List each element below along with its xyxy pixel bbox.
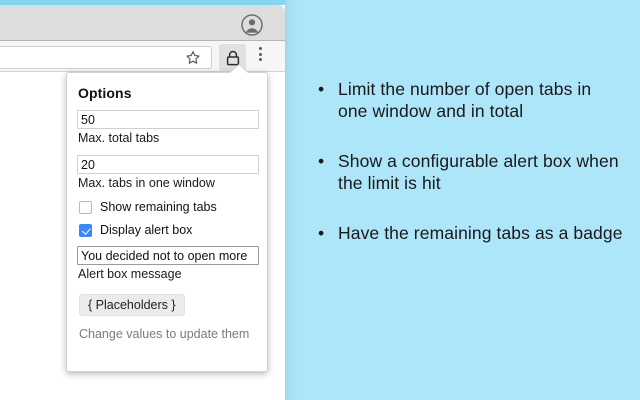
display-alert-box-row[interactable]: Display alert box xyxy=(79,223,257,237)
promo-feature-text: Limit the number of open tabs in one win… xyxy=(338,79,591,121)
display-alert-box-checkbox[interactable] xyxy=(79,224,92,237)
placeholders-button[interactable]: { Placeholders } xyxy=(79,294,185,316)
popup-title: Options xyxy=(78,85,257,101)
extension-popup: Options Max. total tabs Max. tabs in one… xyxy=(66,72,268,372)
promo-feature-item: • Limit the number of open tabs in one w… xyxy=(314,78,624,122)
popup-hint-text: Change values to update them xyxy=(79,327,257,342)
star-icon[interactable] xyxy=(185,50,201,66)
browser-window: Options Max. total tabs Max. tabs in one… xyxy=(0,0,285,400)
display-alert-box-label: Display alert box xyxy=(100,223,192,237)
menu-dot xyxy=(259,53,262,56)
promo-panel: • Limit the number of open tabs in one w… xyxy=(284,0,640,400)
promo-feature-text: Have the remaining tabs as a badge xyxy=(338,223,623,243)
promo-feature-list: • Limit the number of open tabs in one w… xyxy=(314,78,624,272)
show-remaining-tabs-checkbox[interactable] xyxy=(79,201,92,214)
menu-dot xyxy=(259,58,262,61)
show-remaining-tabs-label: Show remaining tabs xyxy=(100,200,217,214)
browser-tabstrip xyxy=(0,5,285,41)
address-bar[interactable] xyxy=(0,46,212,69)
bullet-icon: • xyxy=(318,78,324,100)
bullet-icon: • xyxy=(318,150,324,172)
promo-feature-item: • Show a configurable alert box when the… xyxy=(314,150,624,194)
alert-message-label: Alert box message xyxy=(78,267,257,282)
menu-dot xyxy=(259,47,262,50)
max-total-tabs-input[interactable] xyxy=(77,110,259,129)
max-tabs-one-window-label: Max. tabs in one window xyxy=(78,176,257,191)
three-dot-menu-icon[interactable] xyxy=(252,47,268,67)
screenshot-root: • Limit the number of open tabs in one w… xyxy=(0,0,640,400)
alert-message-input[interactable] xyxy=(77,246,259,265)
popup-caret xyxy=(230,65,248,73)
bullet-icon: • xyxy=(318,222,324,244)
promo-feature-item: • Have the remaining tabs as a badge xyxy=(314,222,624,244)
profile-avatar-icon[interactable] xyxy=(241,14,263,36)
padlock-icon xyxy=(226,50,240,66)
promo-feature-text: Show a configurable alert box when the l… xyxy=(338,151,619,193)
max-tabs-one-window-input[interactable] xyxy=(77,155,259,174)
max-total-tabs-label: Max. total tabs xyxy=(78,131,257,146)
show-remaining-tabs-row[interactable]: Show remaining tabs xyxy=(79,200,257,214)
